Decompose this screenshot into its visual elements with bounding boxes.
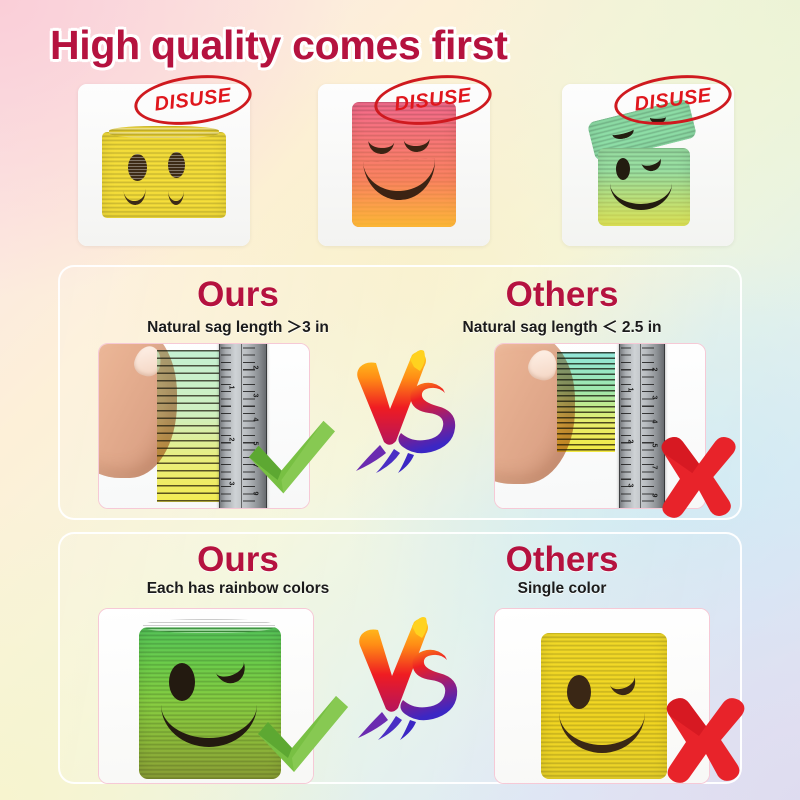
others-subtitle: Single color xyxy=(412,580,712,598)
others-heading: Others xyxy=(412,277,712,313)
ours-column-header-sag: Ours Natural sag length ＞3 in xyxy=(88,277,388,337)
comparison-panel-rainbow-colors: Ours Each has rainbow colors Others Sing… xyxy=(58,532,742,784)
ours-heading: Ours xyxy=(88,277,388,313)
ours-subtitle: Each has rainbow colors xyxy=(88,580,388,598)
disuse-card-yellow: DISUSE xyxy=(78,84,250,246)
others-subtitle: Natural sag length ＜ 2.5 in xyxy=(412,315,712,337)
ours-column-header-color: Ours Each has rainbow colors xyxy=(88,542,388,598)
red-cross-icon xyxy=(656,435,742,517)
red-cross-icon xyxy=(660,696,752,782)
disuse-card-green: DISUSE xyxy=(562,84,734,246)
versus-flame-logo xyxy=(352,616,464,742)
page-title: High quality comes first xyxy=(50,22,508,69)
green-check-icon xyxy=(243,417,339,501)
versus-flame-logo xyxy=(350,349,462,475)
green-check-icon xyxy=(252,692,352,780)
disuse-photo-row: DISUSE DISUSE xyxy=(0,84,800,254)
ours-subtitle: Natural sag length ＞3 in xyxy=(88,315,388,337)
disuse-card-pink: DISUSE xyxy=(318,84,490,246)
comparison-panel-sag-length: Ours Natural sag length ＞3 in Others Nat… xyxy=(58,265,742,520)
ours-heading: Ours xyxy=(88,542,388,578)
others-heading: Others xyxy=(412,542,712,578)
others-column-header-color: Others Single color xyxy=(412,542,712,598)
others-column-header-sag: Others Natural sag length ＜ 2.5 in xyxy=(412,277,712,337)
